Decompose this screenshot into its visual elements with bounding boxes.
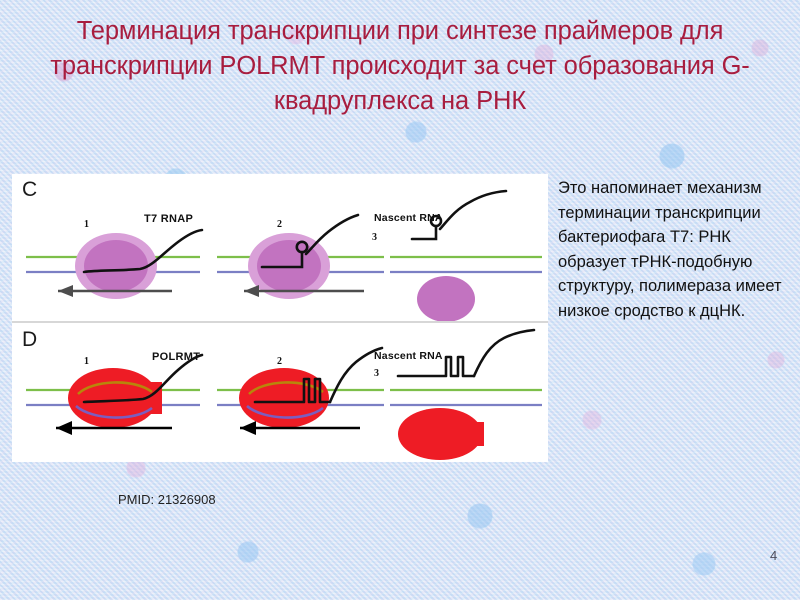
page-title: Терминация транскрипции при синтезе прай… bbox=[8, 14, 792, 119]
panel-d-graphic bbox=[12, 324, 548, 462]
page-number: 4 bbox=[770, 548, 777, 563]
panel-c: C 1 2 3 T7 RNAP Nascent RNA bbox=[12, 174, 548, 322]
panel-c-step3-graphic bbox=[390, 191, 542, 322]
panel-d-step1-graphic bbox=[26, 355, 202, 435]
panel-d-step2-graphic bbox=[217, 348, 384, 435]
panel-c-graphic bbox=[12, 174, 548, 322]
panel-d-step3-graphic bbox=[390, 330, 542, 460]
panel-d: D 1 2 3 POLRMT Nascent RNA bbox=[12, 324, 548, 462]
panel-c-step1-graphic bbox=[26, 230, 202, 299]
body-text: Это напоминает механизм терминации транс… bbox=[558, 176, 796, 324]
figure-panel: C 1 2 3 T7 RNAP Nascent RNA bbox=[12, 174, 548, 462]
panel-c-step2-graphic bbox=[217, 215, 384, 299]
pmid-label: PMID: 21326908 bbox=[118, 492, 216, 507]
panel-divider bbox=[12, 321, 548, 323]
